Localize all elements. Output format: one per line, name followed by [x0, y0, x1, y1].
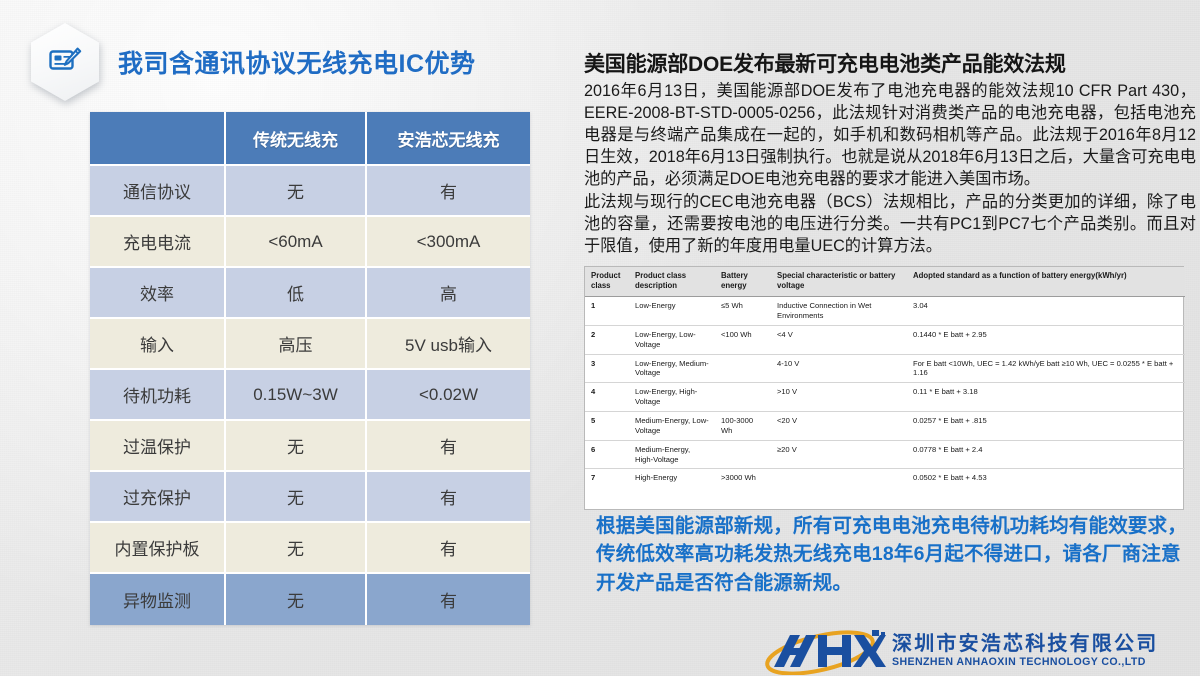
table-row: 1 Low-Energy ≤5 Wh Inductive Connection …	[585, 297, 1185, 326]
doe-col-battery-energy: Battery energy	[715, 267, 771, 297]
doe-cell-energy: 100-3000 Wh	[715, 411, 771, 440]
table-row: 4 Low-Energy, High-Voltage >10 V 0.11 * …	[585, 383, 1185, 412]
doe-cell-characteristic: <4 V	[771, 325, 907, 354]
row-anhaoxin-value: 有	[367, 523, 530, 574]
doe-table-header-row: Product class Product class description …	[585, 267, 1185, 297]
row-traditional-value: 无	[226, 574, 367, 625]
row-traditional-value: 低	[226, 268, 367, 319]
doe-cell-standard: 3.04	[907, 297, 1185, 326]
row-label: 过温保护	[90, 421, 226, 472]
row-traditional-value: 0.15W~3W	[226, 370, 367, 421]
doe-product-class-table: Product class Product class description …	[584, 266, 1184, 510]
row-traditional-value: 无	[226, 523, 367, 574]
doe-cell-energy	[715, 383, 771, 412]
doe-cell-energy: >3000 Wh	[715, 469, 771, 487]
doe-cell-standard: 0.11 * E batt + 3.18	[907, 383, 1185, 412]
doe-cell-description: Low-Energy	[629, 297, 715, 326]
company-logo: 深圳市安浩芯科技有限公司 SHENZHEN ANHAOXIN TECHNOLOG…	[760, 628, 1200, 676]
table-row: 效率 低 高	[90, 268, 530, 319]
doe-cell-description: Low-Energy, Medium-Voltage	[629, 354, 715, 383]
column-header-anhaoxin: 安浩芯无线充	[367, 112, 530, 166]
ahx-logo-icon	[760, 629, 886, 675]
row-label: 充电电流	[90, 217, 226, 268]
row-traditional-value: 无	[226, 472, 367, 523]
doe-cell-characteristic	[771, 469, 907, 487]
doe-col-adopted-standard: Adopted standard as a function of batter…	[907, 267, 1185, 297]
column-header-traditional: 传统无线充	[226, 112, 367, 166]
row-traditional-value: 无	[226, 166, 367, 217]
doe-cell-energy	[715, 354, 771, 383]
table-row: 过温保护 无 有	[90, 421, 530, 472]
article-paragraph-2: 此法规与现行的CEC电池充电器（BCS）法规相比，产品的分类更加的详细，除了电池…	[584, 191, 1196, 257]
row-anhaoxin-value: 有	[367, 421, 530, 472]
doe-cell-class: 2	[585, 325, 629, 354]
doe-cell-standard: 0.1440 * E batt + 2.95	[907, 325, 1185, 354]
doe-cell-characteristic: >10 V	[771, 383, 907, 412]
doe-cell-energy: <100 Wh	[715, 325, 771, 354]
slide-canvas: 我司含通讯协议无线充电IC优势 传统无线充 安浩芯无线充 通信协议 无 有 充电…	[0, 0, 1200, 676]
doe-cell-standard: 0.0257 * E batt + .815	[907, 411, 1185, 440]
table-row: 内置保护板 无 有	[90, 523, 530, 574]
table-row: 6 Medium-Energy, High-Voltage ≥20 V 0.07…	[585, 440, 1185, 469]
doe-cell-class: 1	[585, 297, 629, 326]
doe-cell-standard: 0.0502 * E batt + 4.53	[907, 469, 1185, 487]
doe-cell-characteristic: ≥20 V	[771, 440, 907, 469]
doe-cell-characteristic: <20 V	[771, 411, 907, 440]
table-row: 充电电流 <60mA <300mA	[90, 217, 530, 268]
comparison-table: 传统无线充 安浩芯无线充 通信协议 无 有 充电电流 <60mA <300mA …	[90, 112, 530, 625]
table-row: 过充保护 无 有	[90, 472, 530, 523]
conclusion-callout: 根据美国能源部新规，所有可充电电池充电待机功耗均有能效要求，传统低效率高功耗发热…	[596, 512, 1200, 597]
company-name-cn: 深圳市安浩芯科技有限公司	[892, 634, 1158, 655]
doe-cell-energy: ≤5 Wh	[715, 297, 771, 326]
table-row: 3 Low-Energy, Medium-Voltage 4-10 V For …	[585, 354, 1185, 383]
table-row: 通信协议 无 有	[90, 166, 530, 217]
row-anhaoxin-value: <0.02W	[367, 370, 530, 421]
row-traditional-value: 无	[226, 421, 367, 472]
article-column: 美国能源部DOE发布最新可充电电池类产品能效法规 2016年6月13日，美国能源…	[584, 52, 1196, 510]
row-label: 待机功耗	[90, 370, 226, 421]
article-heading: 美国能源部DOE发布最新可充电电池类产品能效法规	[584, 52, 1196, 78]
doe-col-product-class: Product class	[585, 267, 629, 297]
table-row: 2 Low-Energy, Low-Voltage <100 Wh <4 V 0…	[585, 325, 1185, 354]
row-label: 过充保护	[90, 472, 226, 523]
company-logo-text: 深圳市安浩芯科技有限公司 SHENZHEN ANHAOXIN TECHNOLOG…	[892, 634, 1158, 670]
row-anhaoxin-value: 5V usb输入	[367, 319, 530, 370]
doe-cell-description: High-Energy	[629, 469, 715, 487]
doe-cell-class: 4	[585, 383, 629, 412]
row-label: 输入	[90, 319, 226, 370]
row-anhaoxin-value: 有	[367, 574, 530, 625]
table-row: 7 High-Energy >3000 Wh 0.0502 * E batt +…	[585, 469, 1185, 487]
doe-cell-class: 3	[585, 354, 629, 383]
table-row: 输入 高压 5V usb输入	[90, 319, 530, 370]
doe-col-description: Product class description	[629, 267, 715, 297]
comparison-table-header-row: 传统无线充 安浩芯无线充	[90, 112, 530, 166]
ahx-logo-mark	[760, 629, 886, 675]
doe-cell-description: Low-Energy, Low-Voltage	[629, 325, 715, 354]
doe-cell-standard: 0.0778 * E batt + 2.4	[907, 440, 1185, 469]
document-edit-icon	[47, 44, 83, 80]
row-label: 效率	[90, 268, 226, 319]
doe-cell-class: 6	[585, 440, 629, 469]
table-row: 异物监测 无 有	[90, 574, 530, 625]
column-header-blank	[90, 112, 226, 166]
row-anhaoxin-value: 高	[367, 268, 530, 319]
doe-cell-class: 7	[585, 469, 629, 487]
doe-col-characteristic: Special characteristic or battery voltag…	[771, 267, 907, 297]
doe-cell-characteristic: Inductive Connection in Wet Environments	[771, 297, 907, 326]
doe-table-footer-space	[585, 487, 1183, 509]
row-traditional-value: <60mA	[226, 217, 367, 268]
header-badge	[30, 22, 100, 102]
row-label: 内置保护板	[90, 523, 226, 574]
page-title: 我司含通讯协议无线充电IC优势	[118, 44, 476, 80]
doe-cell-description: Medium-Energy, Low-Voltage	[629, 411, 715, 440]
doe-cell-characteristic: 4-10 V	[771, 354, 907, 383]
article-paragraph-1: 2016年6月13日，美国能源部DOE发布了电池充电器的能效法规10 CFR P…	[584, 80, 1196, 190]
row-anhaoxin-value: 有	[367, 166, 530, 217]
row-anhaoxin-value: 有	[367, 472, 530, 523]
slide-header: 我司含通讯协议无线充电IC优势	[30, 22, 476, 102]
doe-cell-standard: For E batt <10Wh, UEC = 1.42 kWh/yE batt…	[907, 354, 1185, 383]
table-row: 5 Medium-Energy, Low-Voltage 100-3000 Wh…	[585, 411, 1185, 440]
doe-cell-class: 5	[585, 411, 629, 440]
row-label: 异物监测	[90, 574, 226, 625]
doe-cell-description: Low-Energy, High-Voltage	[629, 383, 715, 412]
doe-cell-energy	[715, 440, 771, 469]
row-label: 通信协议	[90, 166, 226, 217]
company-name-en: SHENZHEN ANHAOXIN TECHNOLOGY CO.,LTD	[892, 655, 1158, 670]
table-row: 待机功耗 0.15W~3W <0.02W	[90, 370, 530, 421]
doe-cell-description: Medium-Energy, High-Voltage	[629, 440, 715, 469]
row-traditional-value: 高压	[226, 319, 367, 370]
row-anhaoxin-value: <300mA	[367, 217, 530, 268]
